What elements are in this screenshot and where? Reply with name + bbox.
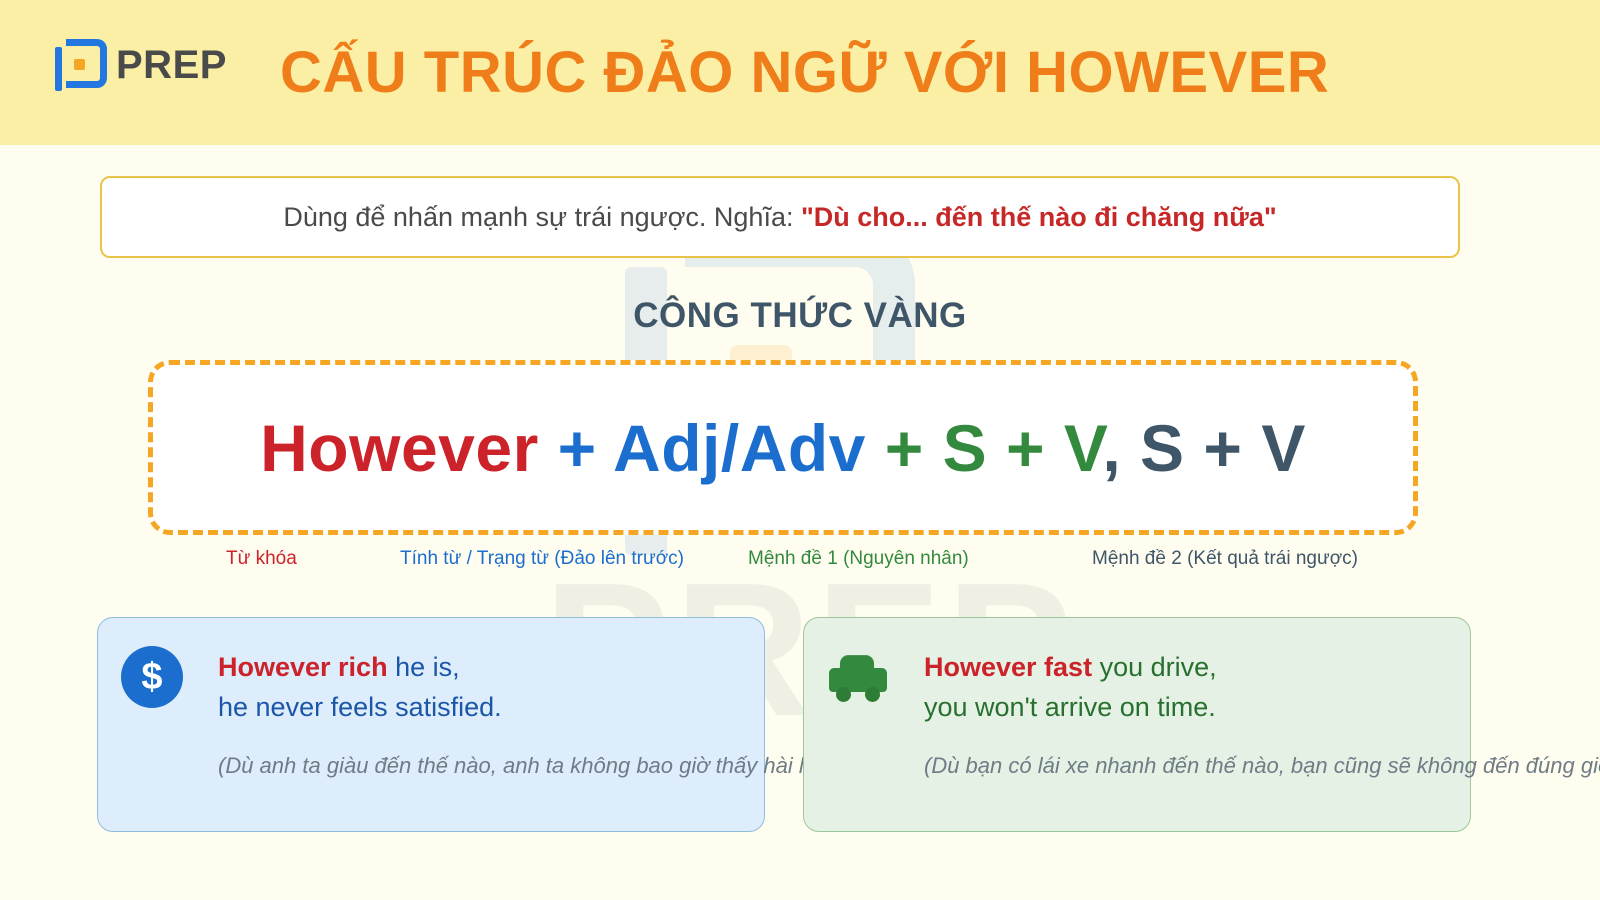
formula-token-verb-2: V bbox=[1261, 411, 1306, 485]
definition-text: Dùng để nhấn mạnh sự trái ngược. Nghĩa: … bbox=[283, 202, 1276, 233]
formula-token-verb-1: V bbox=[1064, 411, 1102, 485]
example-card-rich: $ However rich he is, he never feels sat… bbox=[97, 617, 765, 832]
formula-legend: Từ khóa Tính từ / Trạng từ (Đảo lên trướ… bbox=[148, 548, 1418, 578]
example-line2: you won't arrive on time. bbox=[924, 692, 1216, 722]
legend-item-clause-1: Mệnh đề 1 (Nguyên nhân) bbox=[748, 548, 969, 570]
definition-box: Dùng để nhấn mạnh sự trái ngược. Nghĩa: … bbox=[100, 176, 1460, 258]
definition-emphasis: "Dù cho... đến thế nào đi chăng nữa" bbox=[801, 202, 1277, 232]
formula-token-subject-2: S bbox=[1140, 411, 1185, 485]
formula-token-plus-4: + bbox=[1203, 411, 1242, 485]
legend-item-keyword: Từ khóa bbox=[226, 548, 297, 570]
formula-token-adjadv: Adj/Adv bbox=[613, 411, 866, 485]
car-icon bbox=[827, 646, 889, 708]
example-translation: (Dù bạn có lái xe nhanh đến thế nào, bạn… bbox=[924, 753, 1600, 779]
logo-wordmark: PREP bbox=[116, 43, 227, 88]
infographic-page: PREP PREP CẤU TRÚC ĐẢO NGỮ VỚI HOWEVER D… bbox=[0, 0, 1600, 900]
dollar-icon: $ bbox=[121, 646, 183, 708]
formula-token-plus-1: + bbox=[558, 411, 597, 485]
legend-item-adjadv: Tính từ / Trạng từ (Đảo lên trước) bbox=[400, 548, 684, 570]
example-highlight: However rich bbox=[218, 652, 388, 682]
example-rest-line1: he is, bbox=[388, 652, 460, 682]
formula-token-plus-3: + bbox=[1006, 411, 1045, 485]
header-band: PREP CẤU TRÚC ĐẢO NGỮ VỚI HOWEVER bbox=[0, 0, 1600, 145]
page-title: CẤU TRÚC ĐẢO NGỮ VỚI HOWEVER bbox=[280, 0, 1329, 145]
formula-expression: However + Adj/Adv + S + V, S + V bbox=[260, 410, 1306, 486]
example-card-fast: However fast you drive, you won't arrive… bbox=[803, 617, 1471, 832]
prep-bracket-logo-icon bbox=[55, 39, 107, 91]
example-sentence: However fast you drive, you won't arrive… bbox=[924, 648, 1217, 728]
example-translation: (Dù anh ta giàu đến thế nào, anh ta khôn… bbox=[218, 753, 854, 779]
definition-lead: Dùng để nhấn mạnh sự trái ngược. Nghĩa: bbox=[283, 202, 801, 232]
prep-logo[interactable]: PREP bbox=[55, 38, 227, 92]
formula-panel: However + Adj/Adv + S + V, S + V bbox=[148, 360, 1418, 535]
example-sentence: However rich he is, he never feels satis… bbox=[218, 648, 502, 728]
example-line2: he never feels satisfied. bbox=[218, 692, 502, 722]
formula-token-comma: , bbox=[1102, 411, 1121, 485]
formula-token-keyword: However bbox=[260, 411, 539, 485]
formula-token-plus-2: + bbox=[885, 411, 924, 485]
legend-item-clause-2: Mệnh đề 2 (Kết quả trái ngược) bbox=[1092, 548, 1358, 570]
example-rest-line1: you drive, bbox=[1092, 652, 1217, 682]
example-highlight: However fast bbox=[924, 652, 1092, 682]
formula-token-subject-1: S bbox=[943, 411, 988, 485]
formula-heading: CÔNG THỨC VÀNG bbox=[0, 296, 1600, 336]
